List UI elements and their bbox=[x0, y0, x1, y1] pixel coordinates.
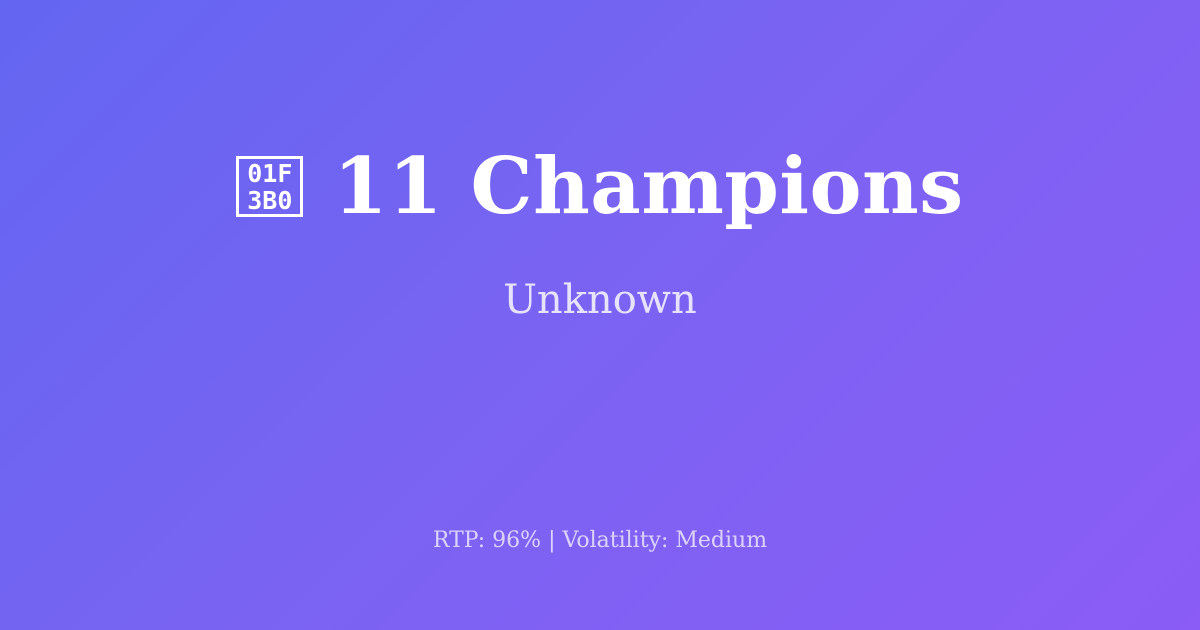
game-preview-card: 01F 3B0 11 Champions Unknown RTP: 96% | … bbox=[0, 0, 1200, 630]
card-header-block: 01F 3B0 11 Champions Unknown bbox=[0, 0, 1200, 470]
slot-machine-icon-hex-top: 01F bbox=[247, 160, 292, 187]
slot-machine-icon: 01F 3B0 bbox=[236, 156, 303, 217]
slot-machine-icon-hex-bottom: 3B0 bbox=[247, 187, 292, 214]
headline-row: 01F 3B0 11 Champions bbox=[0, 146, 1200, 228]
game-provider-subtitle: Unknown bbox=[503, 276, 697, 324]
game-stats-footer: RTP: 96% | Volatility: Medium bbox=[0, 527, 1200, 556]
page-title: 11 Champions bbox=[333, 146, 963, 228]
